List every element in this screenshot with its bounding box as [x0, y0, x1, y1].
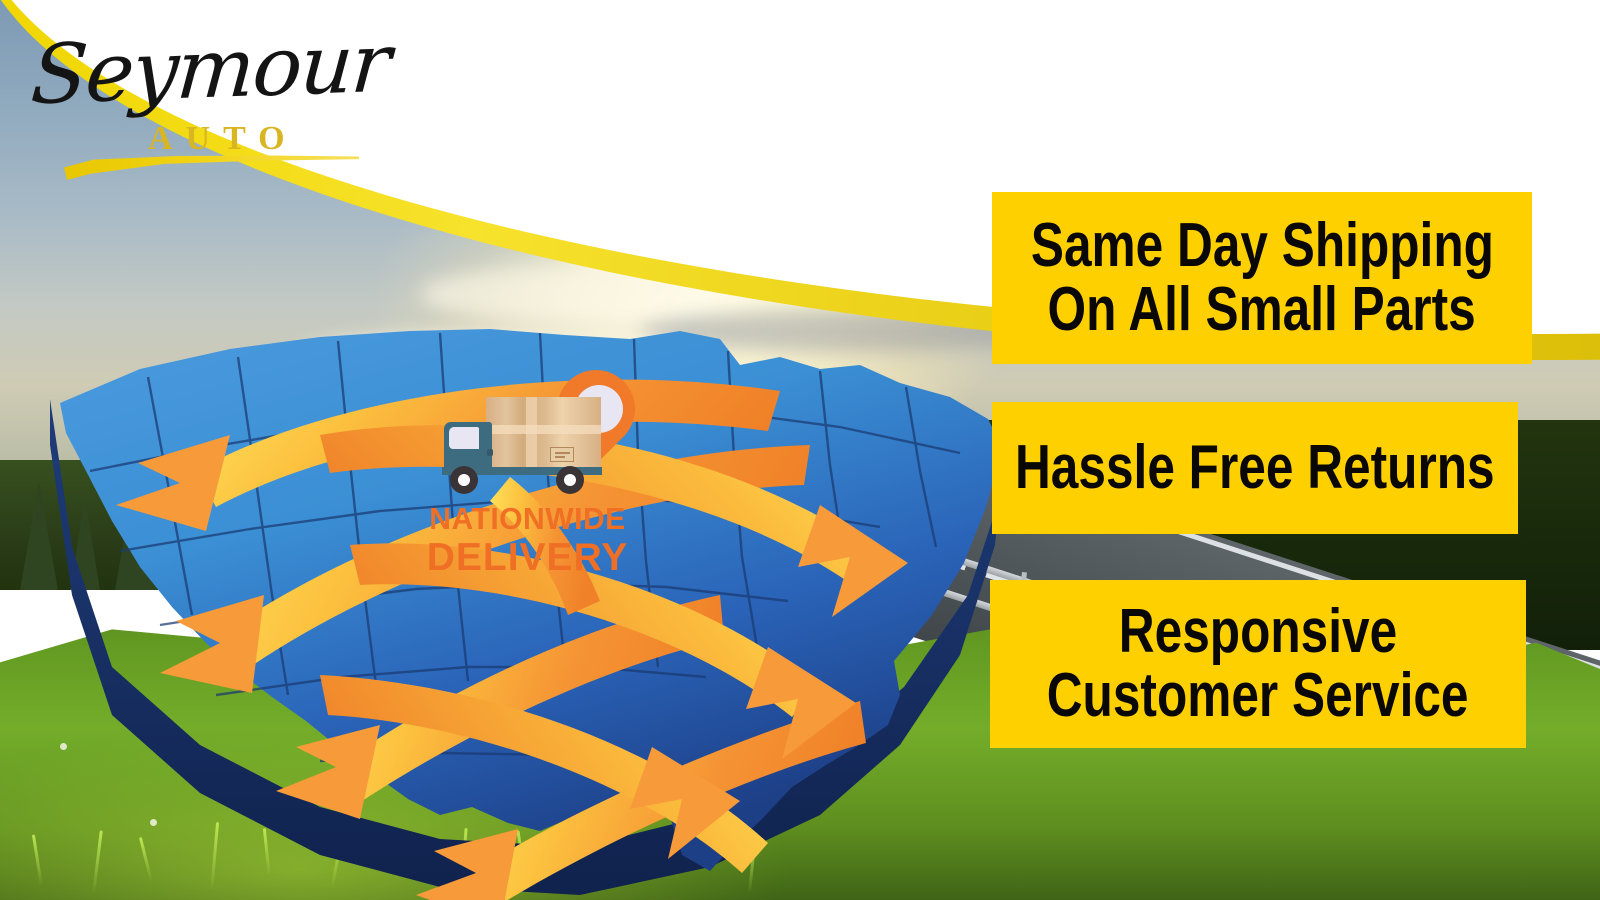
message-panel-responsive-customer-service: Responsive Customer Service: [990, 580, 1526, 748]
caption-line-delivery: DELIVERY: [420, 538, 635, 577]
truck-wheel-front: [450, 466, 478, 494]
truck-mirror: [487, 449, 493, 456]
logo-wordmark-seymour: Seymour: [28, 16, 392, 123]
truck-box-tape-v: [526, 397, 537, 469]
message-panel-same-day-shipping: Same Day Shipping On All Small Parts: [992, 192, 1532, 364]
panel-line: Responsive: [1119, 600, 1397, 664]
truck-window: [449, 427, 479, 449]
message-panel-hassle-free-returns: Hassle Free Returns: [992, 402, 1518, 534]
nationwide-delivery-caption: NATIONWIDE DELIVERY: [420, 503, 635, 577]
brand-logo[interactable]: Seymour AUTO: [30, 22, 360, 172]
nationwide-delivery-badge: NATIONWIDE DELIVERY: [420, 365, 670, 590]
truck-wheel-rear: [556, 466, 584, 494]
panel-line: On All Small Parts: [1048, 278, 1476, 342]
delivery-truck-icon: [438, 397, 613, 492]
truck-box-tape-h: [486, 425, 601, 434]
logo-wordmark-auto: AUTO: [148, 120, 298, 158]
caption-line-nationwide: NATIONWIDE: [423, 503, 632, 534]
panel-line: Hassle Free Returns: [1015, 436, 1495, 500]
panel-line: Same Day Shipping: [1030, 214, 1493, 278]
truck-shipping-label: [550, 447, 574, 462]
panel-line: Customer Service: [1047, 664, 1469, 728]
promo-banner: NATIONWIDE DELIVERY Seymour AUTO Same Da…: [0, 0, 1600, 900]
